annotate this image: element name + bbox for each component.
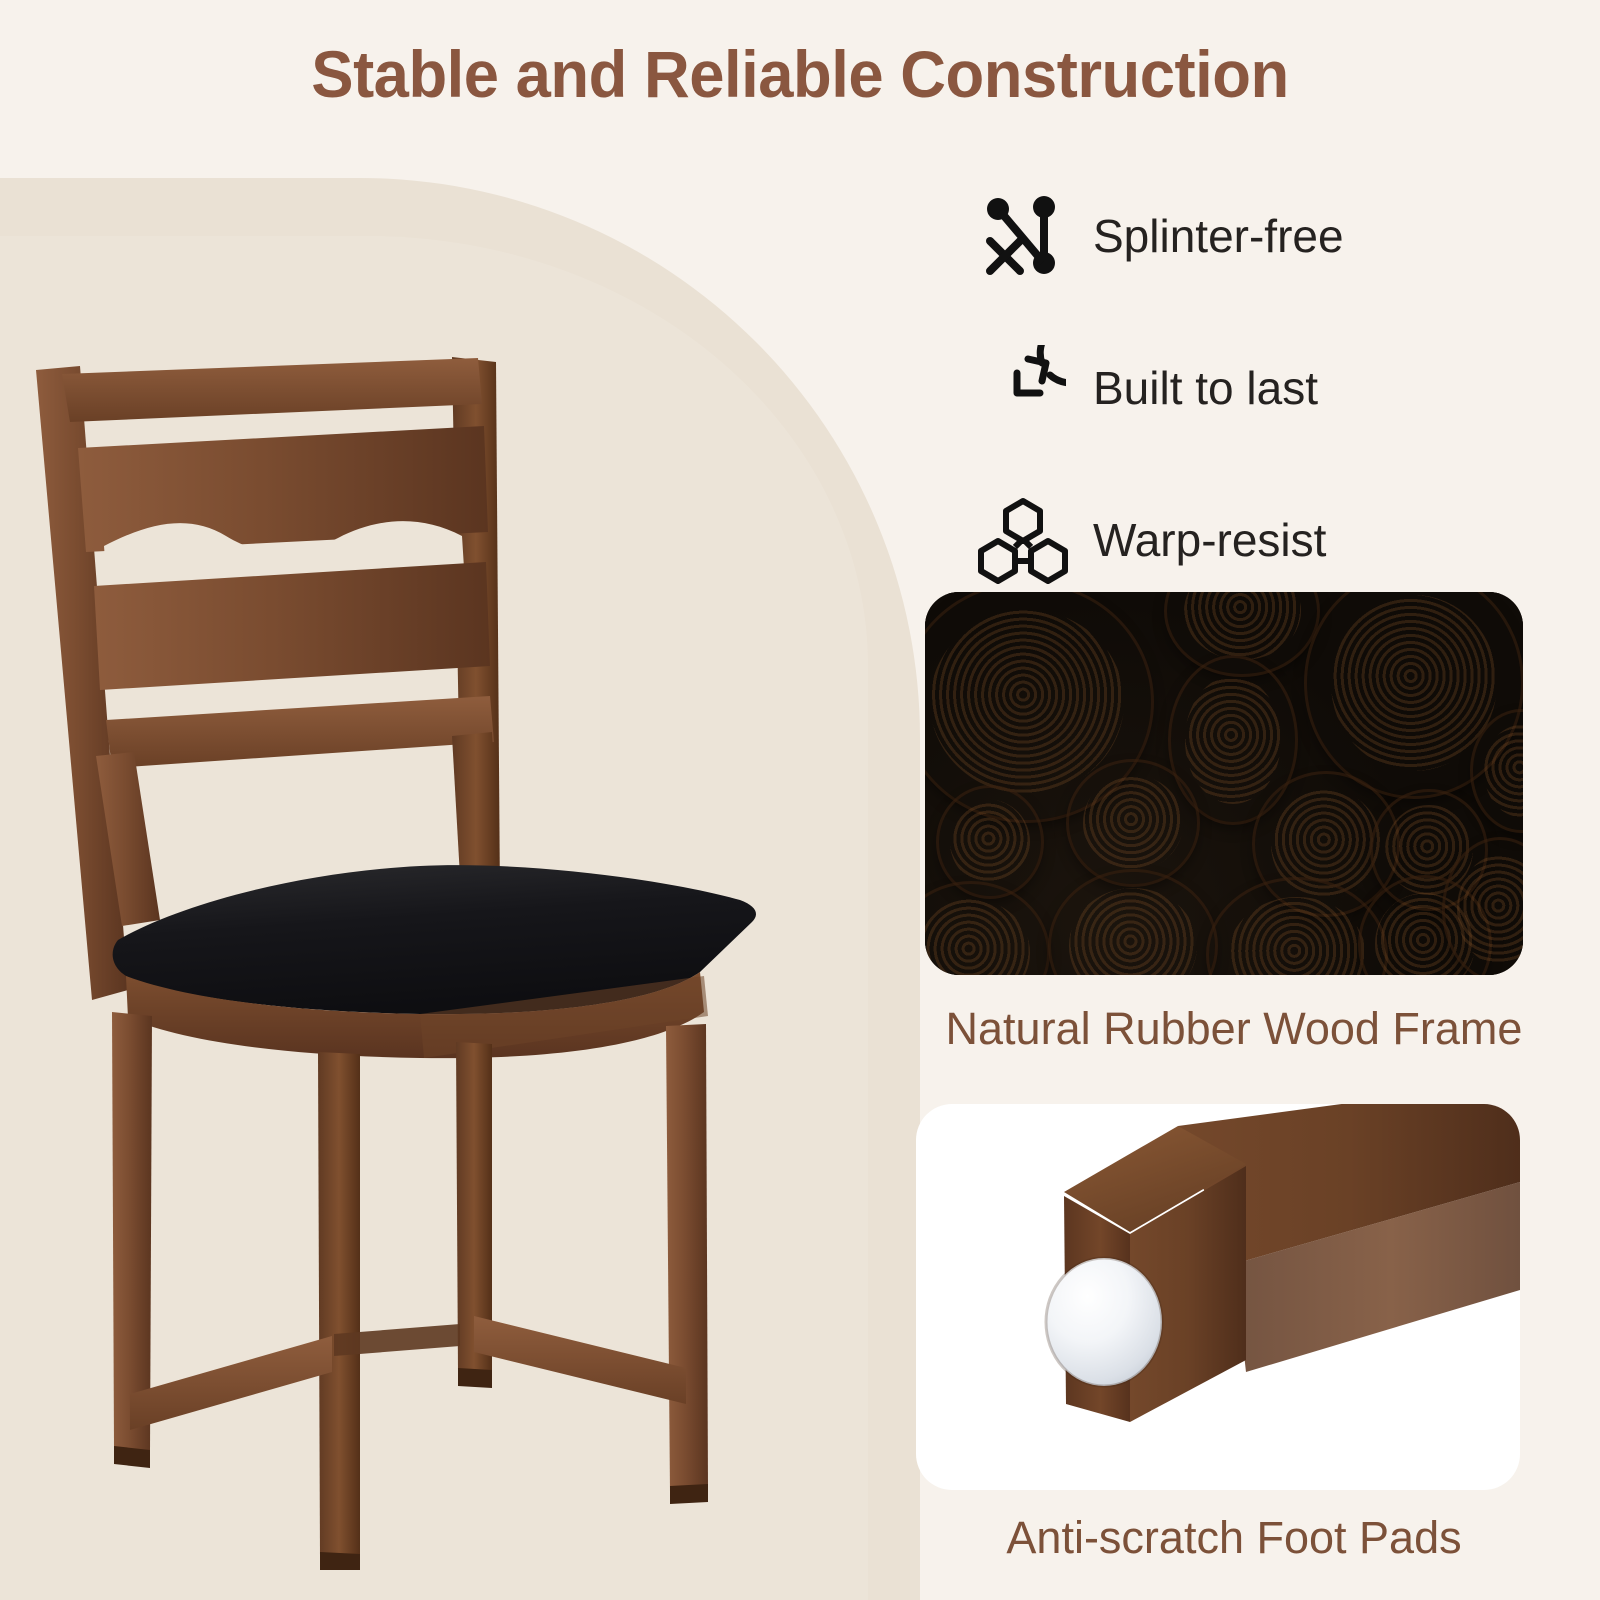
splinter-free-icon xyxy=(975,193,1071,279)
clock-rotate-icon xyxy=(975,345,1071,431)
feature-item-splinter-free: Splinter-free xyxy=(975,160,1535,312)
product-image-chair xyxy=(0,300,820,1570)
chair-svg xyxy=(0,300,820,1570)
stacked-cut-logs-photo xyxy=(925,592,1523,975)
foot-pads-caption: Anti-scratch Foot Pads xyxy=(868,1512,1600,1564)
feature-item-built-to-last: Built to last xyxy=(975,312,1535,464)
feature-list: Splinter-free Built to last xyxy=(975,160,1535,616)
chair-leg-foot-pad-photo xyxy=(916,1104,1520,1490)
wood-logs-card xyxy=(925,592,1523,975)
foot-pads-card xyxy=(916,1104,1520,1490)
feature-label: Splinter-free xyxy=(1093,209,1344,263)
feature-label: Built to last xyxy=(1093,361,1318,415)
wood-logs-caption: Natural Rubber Wood Frame xyxy=(868,1003,1600,1055)
hexagon-molecule-icon xyxy=(975,495,1071,585)
feature-label: Warp-resist xyxy=(1093,513,1326,567)
page-title: Stable and Reliable Construction xyxy=(32,36,1568,112)
